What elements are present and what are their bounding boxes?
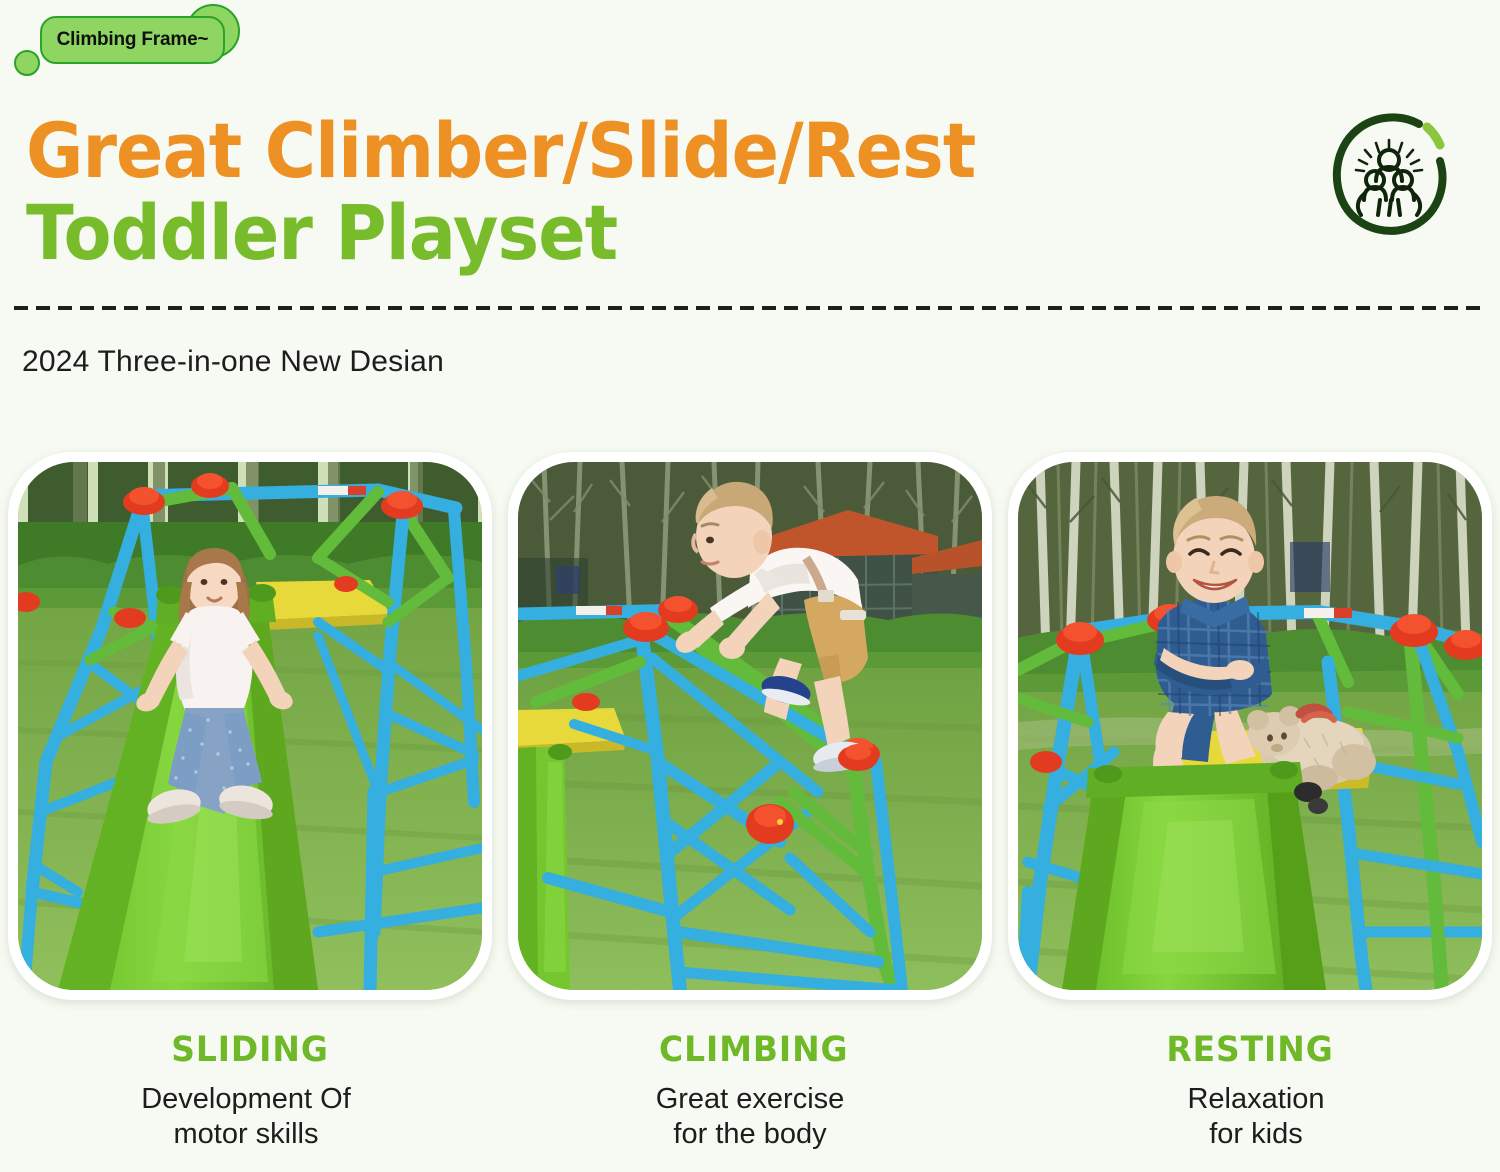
brand-badge-label: Climbing Frame~ <box>57 29 209 51</box>
photo-card-resting[interactable] <box>1008 452 1492 1000</box>
caption-text-sliding: Development Of motor skills <box>4 1082 488 1152</box>
photo-card-climbing[interactable] <box>508 452 992 1000</box>
caption-text-climbing-line1: Great exercise <box>656 1083 845 1115</box>
photo-sliding <box>18 462 482 990</box>
caption-text-resting-line2: for kids <box>1209 1118 1302 1150</box>
caption-resting: RESTING Relaxation for kids <box>1008 1030 1492 1152</box>
caption-climbing: CLIMBING Great exercise for the body <box>508 1030 992 1152</box>
dashed-divider <box>14 306 1486 310</box>
caption-title-resting: RESTING <box>1023 1030 1478 1070</box>
headline-line-primary: Great Climber/Slide/Rest <box>26 110 1185 192</box>
caption-text-resting: Relaxation for kids <box>1014 1082 1498 1152</box>
brand-badge: Climbing Frame~ <box>40 16 225 64</box>
subtitle: 2024 Three-in-one New Desian <box>22 345 444 379</box>
caption-text-sliding-line2: motor skills <box>173 1118 318 1150</box>
family-kids-circle-icon <box>1323 108 1455 240</box>
caption-text-resting-line1: Relaxation <box>1187 1083 1324 1115</box>
headline-block: Great Climber/Slide/Rest Toddler Playset <box>26 110 1286 274</box>
photo-card-sliding[interactable] <box>8 452 492 1000</box>
caption-title-climbing: CLIMBING <box>526 1030 981 1070</box>
caption-text-climbing-line2: for the body <box>673 1118 826 1150</box>
photo-resting <box>1018 462 1482 990</box>
caption-sliding: SLIDING Development Of motor skills <box>8 1030 492 1152</box>
photo-climbing <box>518 462 982 990</box>
caption-text-sliding-line1: Development Of <box>141 1083 351 1115</box>
photo-cards-row <box>0 452 1500 1012</box>
caption-text-climbing: Great exercise for the body <box>508 1082 992 1152</box>
headline-line-secondary: Toddler Playset <box>26 192 1185 274</box>
badge-decor-circle-small <box>14 50 40 76</box>
captions-row: SLIDING Development Of motor skills CLIM… <box>0 1030 1500 1152</box>
caption-title-sliding: SLIDING <box>23 1030 478 1070</box>
